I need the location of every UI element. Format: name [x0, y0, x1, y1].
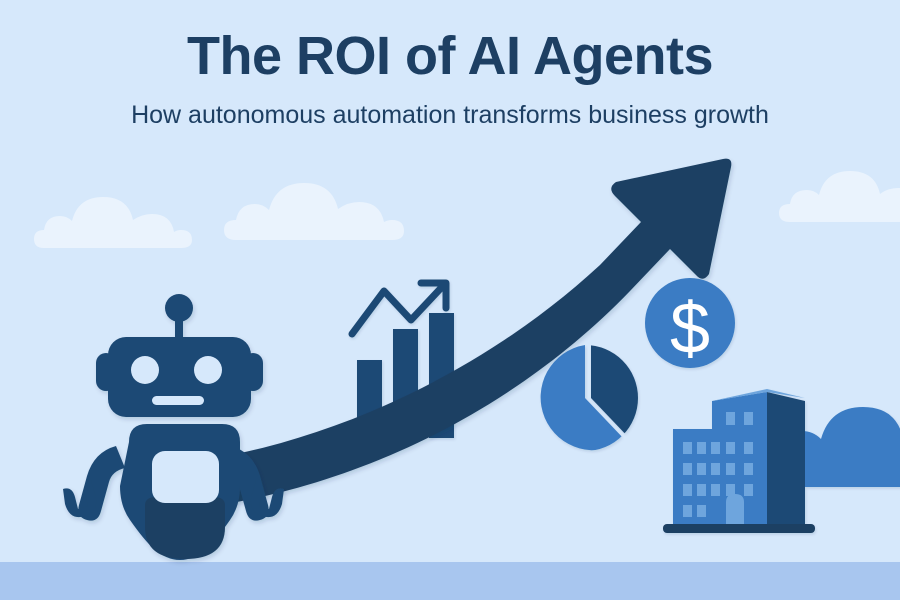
- building-tower-side: [767, 392, 805, 524]
- robot-chest-screen: [152, 451, 219, 503]
- building-door: [726, 494, 744, 524]
- robot-mouth: [152, 396, 204, 405]
- building-base: [663, 524, 815, 533]
- robot-base: [145, 497, 225, 559]
- infographic-canvas: $ The: [0, 0, 900, 600]
- antenna-ball: [165, 294, 193, 322]
- scene-illustration: $: [0, 0, 900, 600]
- ground-strip: [0, 562, 900, 600]
- left-eye: [131, 356, 159, 384]
- dollar-symbol: $: [670, 289, 710, 369]
- right-eye: [194, 356, 222, 384]
